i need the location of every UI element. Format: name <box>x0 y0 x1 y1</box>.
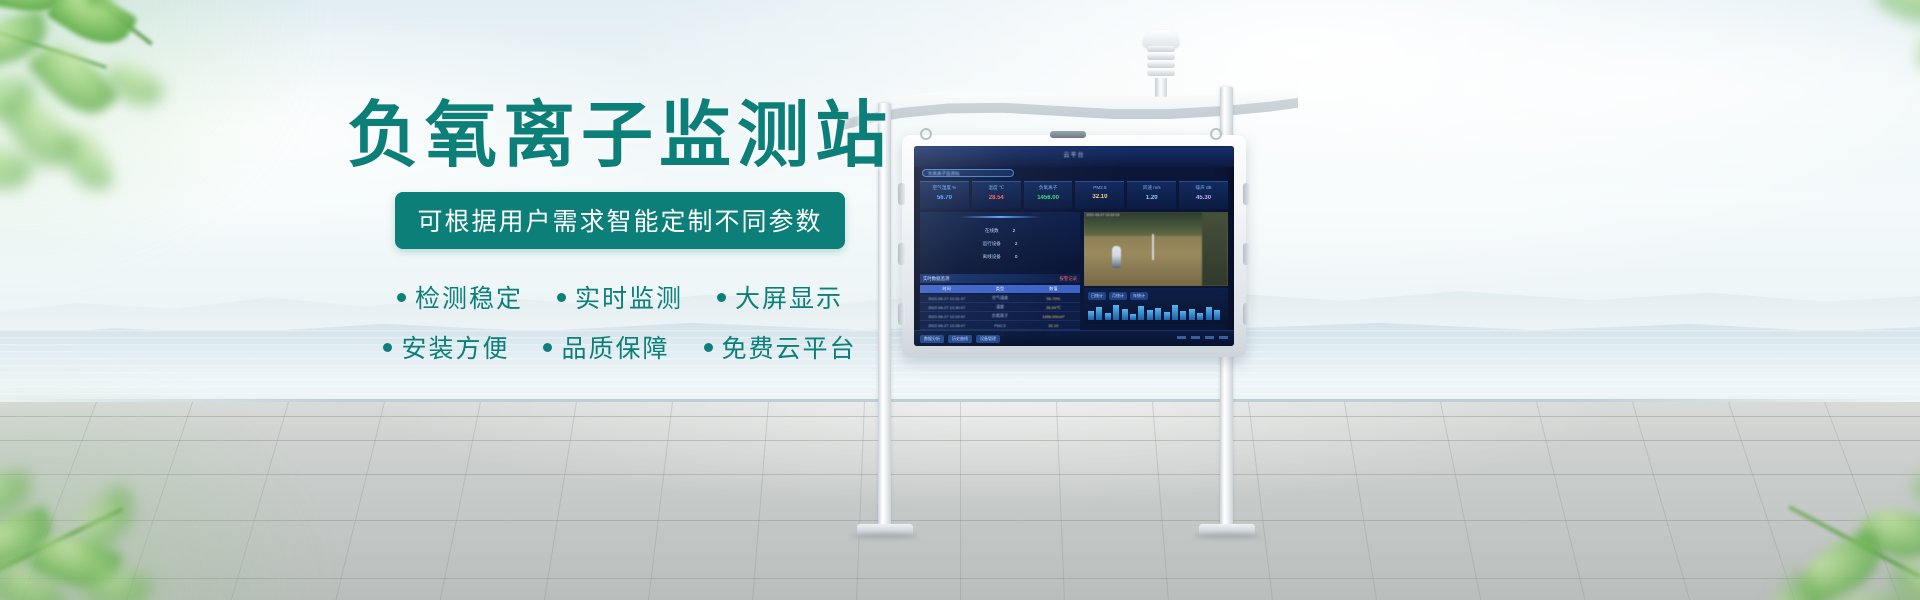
leaf <box>1874 0 1920 33</box>
data-table-cell: 1456.00/cm³ <box>1027 314 1080 319</box>
data-table-cell: 负氧离子 <box>973 313 1026 319</box>
analytics-bar <box>1138 306 1144 320</box>
pavement-line-v <box>1344 402 1377 600</box>
banner-copy: 负氧离子监测站 可根据用户需求智能定制不同参数 检测稳定实时监测大屏显示安装方便… <box>300 100 940 379</box>
feature-list: 检测稳定实时监测大屏显示安装方便品质保障免费云平台 <box>300 279 940 365</box>
feature-row: 安装方便品质保障免费云平台 <box>300 329 940 365</box>
feature-item: 品质保障 <box>543 329 669 365</box>
pavement-line-v <box>544 402 577 600</box>
metric-card: PM2.532.10 <box>1075 181 1124 209</box>
housing-vent-right-1 <box>1243 183 1250 205</box>
data-table-row: 2022-06-27 10:31:47空气湿度56.70% <box>920 294 1080 303</box>
data-table-column-header: 数值 <box>1027 286 1080 292</box>
housing-top-bar <box>1050 131 1086 138</box>
feature-item: 大屏显示 <box>717 279 843 315</box>
analytics-bar <box>1122 309 1128 320</box>
data-table-cell: 56.70% <box>1027 296 1080 301</box>
analytics-bar <box>1096 307 1102 320</box>
feature-label: 免费云平台 <box>722 329 857 365</box>
metric-card: 风速 m/s1.20 <box>1127 181 1176 209</box>
video-person <box>1112 246 1121 268</box>
data-table-header: 实时数据监测 报警记录 <box>920 274 1080 283</box>
sensor-ring-3 <box>1147 62 1175 68</box>
feature-item: 免费云平台 <box>704 329 857 365</box>
analytics-bar <box>1206 307 1212 320</box>
bullet-dot-icon <box>383 343 392 352</box>
foliage-bottom-left <box>0 420 230 600</box>
sensor-cap <box>1143 30 1179 47</box>
analytics-bar <box>1197 313 1203 320</box>
analytics-bar <box>1155 308 1161 320</box>
data-table-row: 2022-06-27 10:28:47PM2.532.10 <box>920 321 1080 330</box>
feature-label: 品质保障 <box>561 329 669 365</box>
data-table-cell: 32.10 <box>1027 323 1080 328</box>
analytics-bar <box>1214 310 1220 320</box>
dashboard-footer: 数据分析历史曲线设备管理 <box>914 330 1234 346</box>
feature-label: 检测稳定 <box>415 279 523 315</box>
led-screen: 云平台 负氧离子监测站 空气湿度 %56.70温度 ℃28.54负氧离子1456… <box>914 146 1234 346</box>
analytics-bar <box>1105 313 1111 320</box>
analytics-chip[interactable]: 月统计 <box>1109 292 1127 300</box>
metric-value: 1.20 <box>1127 195 1176 201</box>
feature-label: 大屏显示 <box>735 279 843 315</box>
data-table-row: 2022-06-27 10:30:47温度28.54℃ <box>920 303 1080 312</box>
status-row: 运行设备 2 <box>920 241 1080 247</box>
status-row: 在线数 2 <box>920 228 1080 234</box>
video-mast <box>1152 234 1154 260</box>
metric-label: PM2.5 <box>1075 185 1124 190</box>
feature-item: 检测稳定 <box>397 279 523 315</box>
pavement-line-v <box>648 402 673 600</box>
pavement-line-v <box>1440 402 1481 600</box>
banner-badge-wrap: 可根据用户需求智能定制不同参数 <box>300 192 940 249</box>
pavement-line-v <box>335 402 385 600</box>
analytics-bar <box>1164 312 1170 320</box>
pavement-line-v <box>1632 402 1690 600</box>
weather-sensor <box>1138 30 1184 100</box>
analytics-bar-chart <box>1088 304 1224 320</box>
footer-indicator-row <box>1177 336 1228 339</box>
metric-card-row: 空气湿度 %56.70温度 ℃28.54负氧离子1456.00PM2.532.1… <box>920 181 1228 209</box>
analytics-chip[interactable]: 年统计 <box>1130 292 1148 300</box>
metric-card: 温度 ℃28.54 <box>972 181 1021 209</box>
footer-tag[interactable]: 历史曲线 <box>948 335 972 343</box>
bullet-dot-icon <box>704 343 713 352</box>
screen-housing: 云平台 负氧离子监测站 空气湿度 %56.70温度 ℃28.54负氧离子1456… <box>902 135 1246 357</box>
status-value: 2 <box>1015 241 1018 247</box>
data-table-alert-label: 报警记录 <box>1059 276 1077 282</box>
analytics-bar <box>1130 314 1136 320</box>
banner-badge: 可根据用户需求智能定制不同参数 <box>395 192 844 249</box>
status-label: 在线数 <box>985 228 999 234</box>
banner-headline: 负氧离子监测站 <box>300 100 940 172</box>
sensor-ring-1 <box>1147 46 1175 52</box>
data-table-columns: 时间类型数值 <box>920 285 1080 293</box>
metric-label: 风速 m/s <box>1127 185 1176 191</box>
analytics-chip[interactable]: 日统计 <box>1088 292 1106 300</box>
post-shadow-right <box>1194 533 1260 539</box>
metric-label: 噪声 dB <box>1179 185 1228 191</box>
bullet-dot-icon <box>717 293 726 302</box>
data-table-column-header: 类型 <box>973 286 1026 292</box>
sensor-ring-2 <box>1147 54 1175 60</box>
feature-row: 检测稳定实时监测大屏显示 <box>300 279 940 315</box>
metric-value: 1456.00 <box>1024 195 1073 201</box>
product-banner: 云平台 负氧离子监测站 空气湿度 %56.70温度 ℃28.54负氧离子1456… <box>0 0 1920 600</box>
metric-card: 负氧离子1456.00 <box>1024 181 1073 209</box>
status-value: 2 <box>1013 228 1016 234</box>
dashboard-title: 云平台 <box>914 150 1234 159</box>
analytics-panel: 日统计月统计年统计 <box>1084 288 1228 324</box>
leaf <box>59 126 114 197</box>
status-label: 运行设备 <box>983 241 1001 247</box>
analytics-bar <box>1189 309 1195 320</box>
feature-item: 实时监测 <box>557 279 683 315</box>
metric-card: 噪声 dB45.30 <box>1179 181 1228 209</box>
pavement-line-v <box>752 402 769 600</box>
video-treeline <box>1202 212 1228 286</box>
sensor-ring-4 <box>1147 70 1175 76</box>
foliage-bottom-right <box>1720 440 1920 600</box>
leaf <box>102 54 167 116</box>
foliage-top-right <box>1760 0 1920 150</box>
bullet-dot-icon <box>543 343 552 352</box>
pavement-line-v <box>440 402 481 600</box>
status-panel-rule <box>960 216 1040 218</box>
leaf <box>1912 18 1920 70</box>
data-table-cell: 28.54℃ <box>1027 305 1080 310</box>
camera-video-feed[interactable]: 2022-06-27 10:32:15 <box>1084 212 1228 286</box>
feature-item: 安装方便 <box>383 329 509 365</box>
metric-value: 45.30 <box>1179 195 1228 201</box>
feature-label: 实时监测 <box>575 279 683 315</box>
footer-indicator <box>1205 336 1214 339</box>
status-label: 离线设备 <box>983 254 1001 260</box>
analytics-bar <box>1113 305 1119 320</box>
bullet-dot-icon <box>557 293 566 302</box>
footer-tag[interactable]: 设备管理 <box>976 335 1000 343</box>
data-table-row: 2022-06-27 10:29:47负氧离子1456.00/cm³ <box>920 312 1080 321</box>
data-table-cell: 空气湿度 <box>973 295 1026 301</box>
data-table-cell: 温度 <box>973 304 1026 310</box>
bullet-dot-icon <box>397 293 406 302</box>
status-panel: 在线数 2 运行设备 2 离线设备 0 <box>920 212 1080 270</box>
housing-vent-right-2 <box>1243 243 1250 265</box>
metric-label: 负氧离子 <box>1024 185 1073 191</box>
analytics-bar <box>1088 311 1094 320</box>
housing-vent-right-3 <box>1243 303 1250 325</box>
foliage-top-left <box>0 0 260 290</box>
analytics-chip-row: 日统计月统计年统计 <box>1088 292 1148 300</box>
footer-indicator <box>1177 336 1186 339</box>
metric-value: 28.54 <box>972 195 1021 201</box>
analytics-bar <box>1180 311 1186 320</box>
status-value: 0 <box>1015 254 1018 260</box>
housing-hook-right-icon <box>1210 128 1222 140</box>
data-table-cell: PM2.5 <box>973 323 1026 328</box>
metric-label: 温度 ℃ <box>972 185 1021 191</box>
analytics-bar <box>1147 310 1153 320</box>
metric-value: 32.10 <box>1075 194 1124 200</box>
pavement-line-v <box>1536 402 1586 600</box>
status-row: 离线设备 0 <box>920 254 1080 260</box>
video-timestamp: 2022-06-27 10:32:15 <box>1086 213 1119 217</box>
feature-label: 安装方便 <box>401 329 509 365</box>
post-shadow-left <box>852 533 918 539</box>
footer-indicator <box>1191 336 1200 339</box>
footer-indicator <box>1219 336 1228 339</box>
analytics-bar <box>1172 305 1178 320</box>
